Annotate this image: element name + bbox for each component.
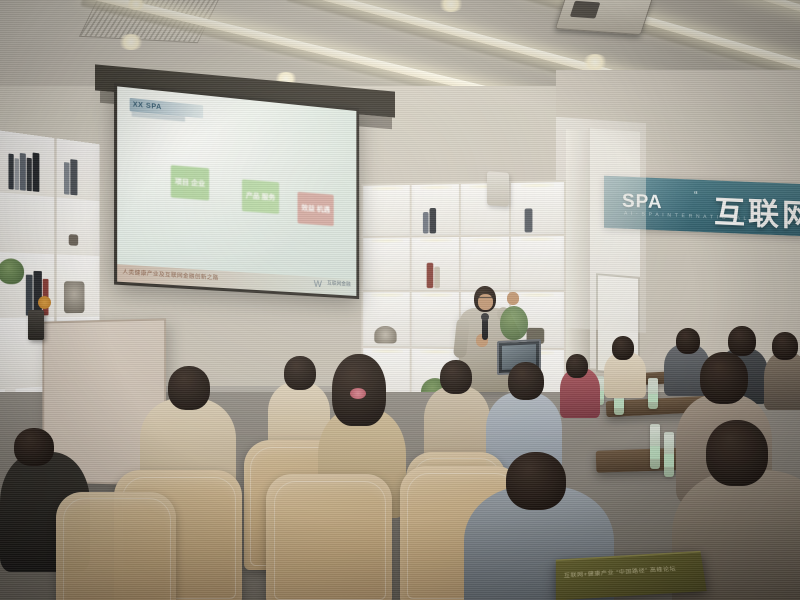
audience-head: [676, 328, 700, 354]
shelf-book: [525, 208, 533, 232]
shelf-row: [0, 192, 100, 259]
shelf-book: [427, 263, 434, 288]
shelf-book: [429, 208, 436, 233]
audience-torso: [424, 386, 490, 462]
shelf-cube: [361, 236, 413, 294]
shelf-book: [434, 267, 440, 289]
shelf-cube: [509, 234, 566, 294]
audience-head: [14, 428, 54, 466]
slide-footer-mark-icon: W: [314, 280, 324, 289]
downlight-icon: [118, 34, 144, 50]
glasses-icon: [478, 297, 493, 302]
slide-box-1: 项目 企业: [171, 165, 209, 201]
slide-box-3: 效益 机遇: [298, 192, 334, 226]
shelf-book: [33, 153, 40, 192]
chair: [56, 492, 176, 600]
audience-head: [284, 356, 316, 390]
shelf-plant: [0, 258, 24, 284]
chair: [266, 474, 392, 600]
shelf-cube: [509, 180, 566, 239]
audience-head: [440, 360, 472, 394]
shelf-book: [8, 153, 13, 189]
microphone-icon: [482, 318, 488, 340]
shelf-ornament: [69, 234, 78, 246]
shelf-book: [423, 212, 429, 234]
shelf-book: [27, 158, 32, 192]
audience-head: [728, 326, 756, 356]
shelf-book: [70, 159, 77, 195]
audience-head: [612, 336, 634, 360]
hair-clip-icon: [350, 388, 366, 399]
slide-box-3-label: 效益 机遇: [301, 203, 330, 214]
shelf-ornament: [374, 326, 396, 344]
photo-scene: SPA A I - S P A I N T E R N A T I O N A …: [0, 0, 800, 600]
slide-footer-text: 人类健康产业及互联网金融创新之路: [122, 268, 218, 282]
audience-head: [772, 332, 798, 360]
audio-speaker-icon: [28, 310, 44, 340]
shelf-book: [20, 153, 26, 191]
shelf-cube: [361, 183, 413, 240]
water-bottle: [648, 378, 658, 409]
wall-mounted-speaker-icon: [487, 171, 509, 207]
water-bottle: [664, 432, 674, 477]
banner-title-text: 互联网: [714, 186, 800, 235]
banner-quote-mark: “: [694, 190, 698, 202]
slide-box-2-label: 产品 服务: [246, 191, 275, 202]
wall-banner: SPA A I - S P A I N T E R N A T I O N A …: [604, 176, 800, 236]
slide-footer-logo: 互联网金融: [327, 280, 351, 288]
audience-head: [706, 420, 768, 486]
audience-head: [506, 452, 566, 510]
shelf-book: [15, 158, 19, 190]
slide-box-1-label: 项目 企业: [175, 177, 205, 189]
podium-plant: [500, 306, 528, 340]
projection-screen: XX SPA 项目 企业 产品 服务 效益 机遇 人类健康产业及互联网金融创新之…: [117, 86, 356, 296]
shelf-cube: [410, 182, 463, 240]
audience-head: [168, 366, 210, 410]
water-bottle: [650, 424, 660, 469]
shelf-book: [64, 162, 70, 195]
audience-head: [508, 362, 544, 400]
ceiling-projector-icon: [555, 0, 653, 35]
shelf-cube: [410, 235, 463, 294]
shelf-ornament: [64, 281, 84, 313]
audience-head: [566, 354, 588, 378]
downlight-icon: [582, 54, 608, 70]
placard-text: 互联网+健康产业 “中国路径” 高峰论坛: [564, 563, 698, 579]
audience-torso: [764, 352, 800, 410]
shelf-cube: [361, 290, 413, 350]
shelf-book: [33, 271, 41, 316]
slide-box-2: 产品 服务: [242, 179, 279, 214]
presenter-hand-raised: [507, 292, 519, 305]
audience-head: [700, 352, 748, 404]
orange-badge-icon: [38, 296, 51, 309]
projection-screen-frame: XX SPA 项目 企业 产品 服务 效益 机遇 人类健康产业及互联网金融创新之…: [114, 83, 359, 299]
